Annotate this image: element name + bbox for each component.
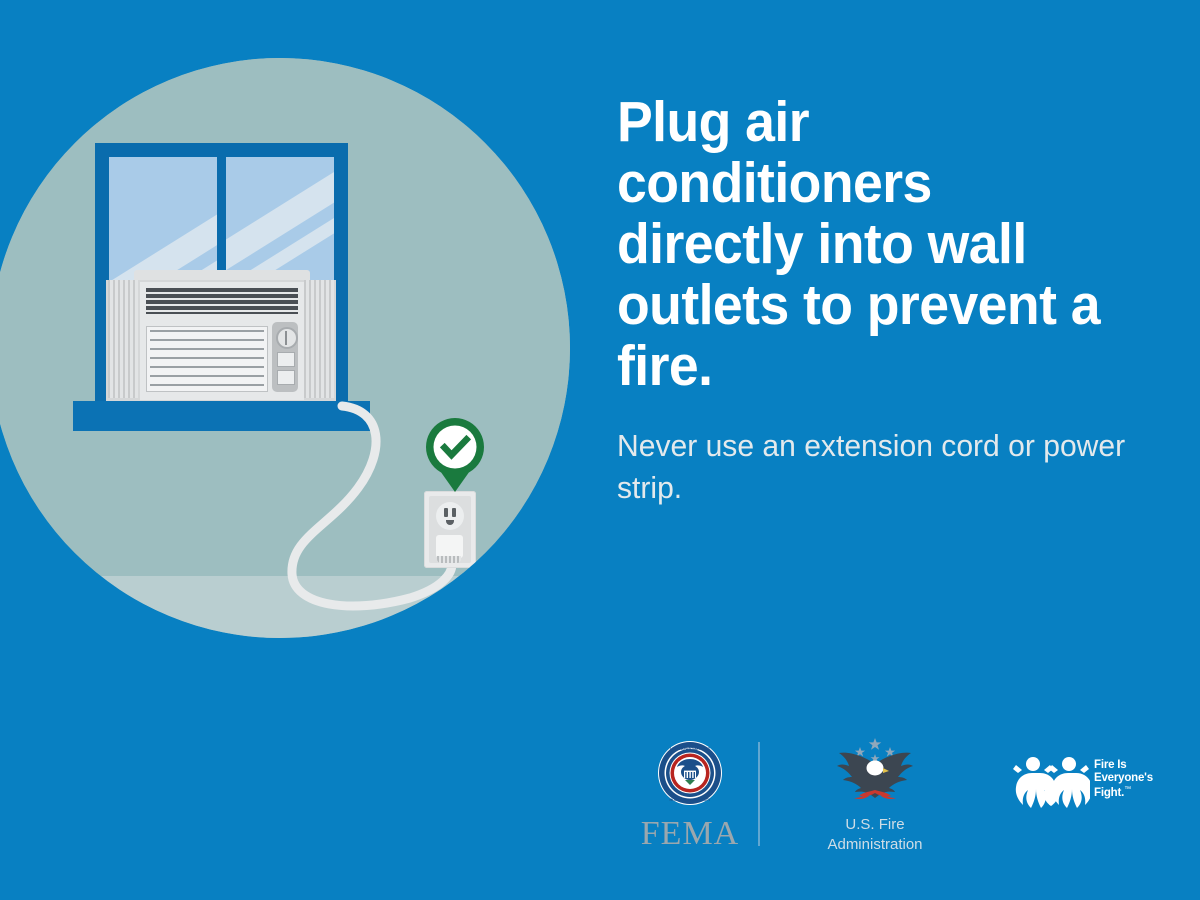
feif-line2: Everyone's — [1094, 772, 1153, 785]
power-plug — [436, 535, 463, 558]
usfa-eagle-icon — [829, 737, 921, 809]
illustration — [0, 58, 590, 658]
footer-logos: U.S. DEPARTMENT OF HOMELAND SECURITY FEM… — [600, 735, 1170, 860]
outlet-socket-empty — [436, 502, 464, 530]
page-title: Plug air conditioners directly into wall… — [617, 92, 1132, 397]
fema-wordmark: FEMA — [625, 815, 755, 853]
message-block: Plug air conditioners directly into wall… — [617, 92, 1165, 509]
feif-tagline: Fire Is Everyone's Fight.™ — [1094, 759, 1153, 799]
scene-circle — [0, 58, 570, 638]
usfa-label-line2: Administration — [795, 836, 955, 854]
two-people-flame-icon — [1012, 753, 1090, 809]
footer-divider — [758, 742, 760, 846]
usfa-logo: U.S. Fire Administration — [795, 737, 955, 854]
power-plug-base — [437, 556, 461, 563]
feif-line1: Fire Is — [1094, 759, 1153, 772]
feif-line3: Fight. — [1094, 787, 1124, 799]
outlet-ground-hole — [446, 520, 454, 525]
fire-is-everyones-fight-logo: Fire Is Everyone's Fight.™ — [1012, 753, 1162, 813]
page-subtitle: Never use an extension cord or power str… — [617, 425, 1149, 509]
outlet-slot-right — [452, 508, 456, 517]
check-mark-pin-icon — [424, 416, 486, 494]
fema-logo: U.S. DEPARTMENT OF HOMELAND SECURITY FEM… — [625, 740, 755, 853]
trademark-symbol: ™ — [1124, 786, 1131, 793]
power-cord — [0, 58, 570, 638]
poster-canvas: Plug air conditioners directly into wall… — [0, 0, 1200, 900]
outlet-slot-left — [444, 508, 448, 517]
dhs-seal-icon: U.S. DEPARTMENT OF HOMELAND SECURITY — [657, 740, 723, 806]
svg-text:U.S. DEPARTMENT OF: U.S. DEPARTMENT OF — [670, 747, 710, 751]
svg-text:HOMELAND SECURITY: HOMELAND SECURITY — [670, 798, 712, 802]
wall-outlet — [424, 491, 476, 568]
usfa-label-line1: U.S. Fire — [795, 816, 955, 834]
